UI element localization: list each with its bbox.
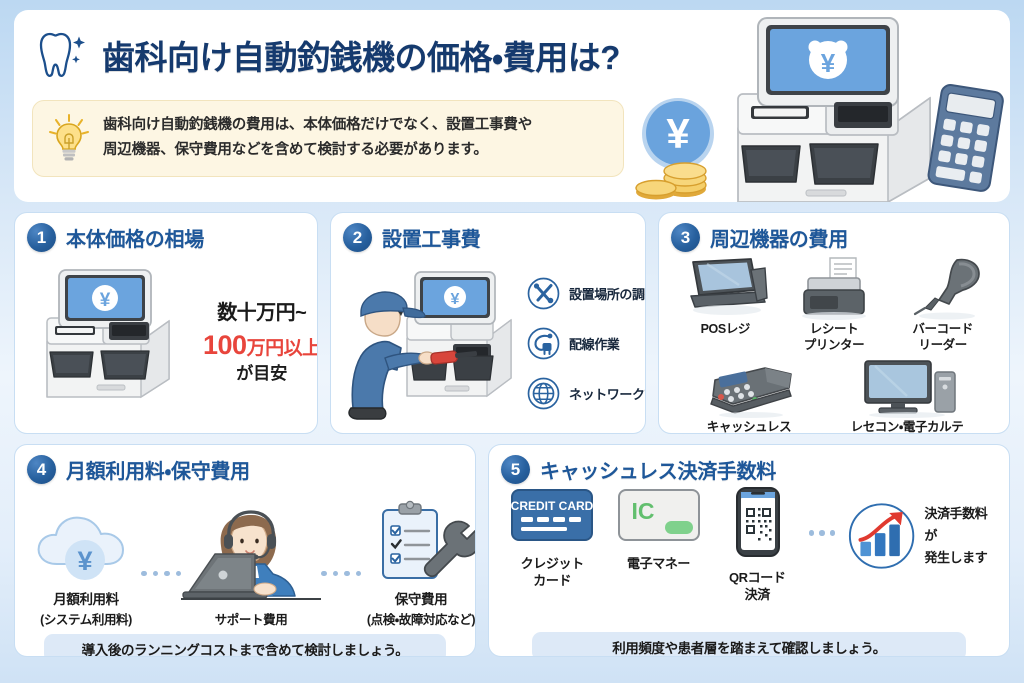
- card-4-note: 導入後のランニングコストまで含めて検討しましょう。: [44, 634, 446, 657]
- maintenance-label: 保守費用: [361, 591, 476, 609]
- fee-label-line-2: 発生します: [924, 547, 997, 569]
- devices-row-1: POSレジ レシートプリンター: [671, 254, 997, 354]
- device-label: レセコン・電子カルテ連携機器など: [839, 419, 975, 435]
- install-item: ネットワーク設定: [527, 377, 646, 410]
- support-agent-illustration: [181, 498, 321, 606]
- callout-box: 歯科向け自動釣銭機の費用は、本体価格だけでなく、設置工事費や 周辺機器、保守費用…: [32, 100, 624, 177]
- price-amount: 100: [203, 330, 247, 360]
- connector-dot: [164, 571, 170, 577]
- pos-terminal-icon: [677, 254, 773, 320]
- price-block: 数十万円~ 100万円以上 が目安: [203, 300, 318, 386]
- fee-label-line-1: 決済手数料が: [924, 503, 997, 547]
- maintenance-column: 保守費用 (点検・故障対応など): [361, 500, 476, 628]
- page-title: 歯科向け自動釣銭機の価格・費用は?: [102, 31, 620, 79]
- card-4-head: 4 月額利用料・保守費用: [27, 455, 463, 484]
- device-item: レシートプリンター: [780, 254, 889, 354]
- svg-text:¥: ¥: [77, 546, 92, 576]
- credit-card-text: CREDIT CARD: [511, 499, 594, 513]
- payment-method-label: クレジットカード: [505, 555, 599, 589]
- card-1-head: 1 本体価格の相場: [27, 223, 305, 252]
- payment-method-item: QRコード決済: [718, 486, 797, 603]
- card-1-title: 本体価格の相場: [66, 223, 204, 252]
- svg-text:¥: ¥: [100, 290, 111, 311]
- install-item-label: 設置場所の調整: [569, 284, 646, 303]
- credit-card-icon: CREDIT CARD: [506, 486, 598, 546]
- install-item: 設置場所の調整: [527, 277, 646, 310]
- card-5-note: 利用頻度や患者層を踏まえて確認しましょう。: [532, 632, 966, 657]
- cash-register-machine-illustration: ¥: [630, 10, 1010, 202]
- payment-method-item: IC 電子マネー: [611, 486, 705, 572]
- card-3-title: 周辺機器の費用: [710, 223, 848, 252]
- dotted-connector: [321, 571, 361, 629]
- payment-method-item: CREDIT CARD クレジットカード: [505, 486, 599, 589]
- card-monthly-maintenance-cost: 4 月額利用料・保守費用 ¥ 月額利用料 (システム利用料): [14, 444, 476, 657]
- connector-dot: [141, 571, 147, 577]
- card-3-head: 3 周辺機器の費用: [671, 223, 997, 252]
- svg-text:¥: ¥: [451, 291, 460, 308]
- card-2-number-badge: 2: [343, 223, 372, 252]
- cards-row-1: 1 本体価格の相場 ¥: [14, 212, 1010, 434]
- device-item: バーコードリーダー: [888, 254, 997, 354]
- device-label: POSレジ: [671, 321, 780, 337]
- support-column: サポート費用: [181, 498, 321, 628]
- card-3-number-badge: 3: [671, 223, 700, 252]
- connector-dot: [153, 571, 159, 577]
- power-plug-icon: [527, 327, 560, 360]
- card-2-head: 2 設置工事費: [343, 223, 633, 252]
- payment-method-label: 電子マネー: [611, 555, 705, 572]
- tools-cross-icon: [527, 277, 560, 310]
- yen-coin-icon: ¥: [642, 98, 714, 170]
- device-label: レシートプリンター: [780, 321, 889, 354]
- card-5-head: 5 キャッシュレス決済手数料: [501, 455, 997, 484]
- card-cashless-fee: 5 キャッシュレス決済手数料 CREDIT CARD: [488, 444, 1010, 657]
- lightbulb-icon: [47, 113, 91, 163]
- card-payment-terminal-icon: [693, 356, 805, 418]
- globe-network-icon: [527, 377, 560, 410]
- growth-chart-icon: [847, 500, 916, 572]
- dotted-connector: [809, 486, 836, 536]
- card-body-price: 1 本体価格の相場 ¥: [14, 212, 318, 434]
- price-line-2: 100万円以上: [203, 327, 318, 363]
- monthly-fee-column: ¥ 月額利用料 (システム利用料): [31, 502, 141, 628]
- devices-row-2: キャッシュレス決済端末 レセコン・電子カルテ連携機器など: [671, 356, 997, 435]
- ic-card-text: IC: [631, 498, 654, 524]
- tooth-sparkle-icon: [32, 24, 94, 86]
- card-2-title: 設置工事費: [382, 223, 481, 252]
- ic-card-icon: IC: [613, 486, 705, 546]
- cards-row-2: 4 月額利用料・保守費用 ¥ 月額利用料 (システム利用料): [14, 444, 1010, 657]
- card-4-title: 月額利用料・保守費用: [66, 455, 250, 484]
- monthly-fee-sublabel: (システム利用料): [31, 609, 141, 628]
- installation-items: 設置場所の調整 配線作業: [527, 277, 646, 410]
- support-label: サポート費用: [181, 609, 321, 628]
- technician-installing-illustration: ¥: [335, 258, 525, 428]
- price-line-3: が目安: [203, 363, 318, 386]
- svg-text:¥: ¥: [666, 110, 690, 157]
- connector-dot: [819, 530, 825, 536]
- card-installation-cost: 2 設置工事費 ¥: [330, 212, 646, 434]
- card-4-number-badge: 4: [27, 455, 56, 484]
- install-item-label: ネットワーク設定: [569, 384, 646, 403]
- cloud-yen-icon: ¥: [31, 502, 141, 586]
- device-item: レセコン・電子カルテ連携機器など: [839, 356, 975, 435]
- infographic-page: 歯科向け自動釣銭機の価格・費用は?: [0, 0, 1024, 683]
- callout-line-1: 歯科向け自動釣銭機の費用は、本体価格だけでなく、設置工事費や: [103, 113, 532, 138]
- price-line-1: 数十万円~: [203, 300, 318, 327]
- device-item: POSレジ: [671, 254, 780, 354]
- price-unit: 万円以上: [247, 338, 318, 359]
- barcode-scanner-icon: [895, 254, 991, 320]
- connector-dot: [321, 571, 327, 577]
- connector-dot: [830, 530, 836, 536]
- header-panel: 歯科向け自動釣銭機の価格・費用は?: [14, 10, 1010, 202]
- cash-register-illustration: ¥: [23, 263, 201, 423]
- connector-dot: [333, 571, 339, 577]
- card-5-number-badge: 5: [501, 455, 530, 484]
- card-5-title: キャッシュレス決済手数料: [540, 455, 776, 484]
- connector-dot: [344, 571, 350, 577]
- card-1-number-badge: 1: [27, 223, 56, 252]
- device-label: バーコードリーダー: [888, 321, 997, 354]
- dotted-connector: [141, 571, 181, 629]
- desktop-computer-icon: [847, 356, 967, 418]
- payment-method-label: QRコード決済: [718, 569, 797, 603]
- callout-line-2: 周辺機器、保守費用などを含めて検討する必要があります。: [103, 138, 532, 163]
- monthly-fee-label: 月額利用料: [31, 591, 141, 609]
- device-item: キャッシュレス決済端末: [693, 356, 805, 435]
- receipt-printer-icon: [786, 254, 882, 320]
- checklist-wrench-icon: [361, 500, 476, 586]
- device-label: キャッシュレス決済端末: [693, 419, 805, 435]
- maintenance-sublabel: (点検・故障対応など): [361, 609, 476, 628]
- svg-text:¥: ¥: [821, 48, 836, 78]
- card-peripheral-cost: 3 周辺機器の費用 POSレジ: [658, 212, 1010, 434]
- install-item: 配線作業: [527, 327, 646, 360]
- install-item-label: 配線作業: [569, 334, 619, 353]
- connector-dot: [809, 530, 815, 536]
- qr-phone-icon: [725, 486, 789, 560]
- fee-notice: 決済手数料が 発生します: [847, 486, 997, 572]
